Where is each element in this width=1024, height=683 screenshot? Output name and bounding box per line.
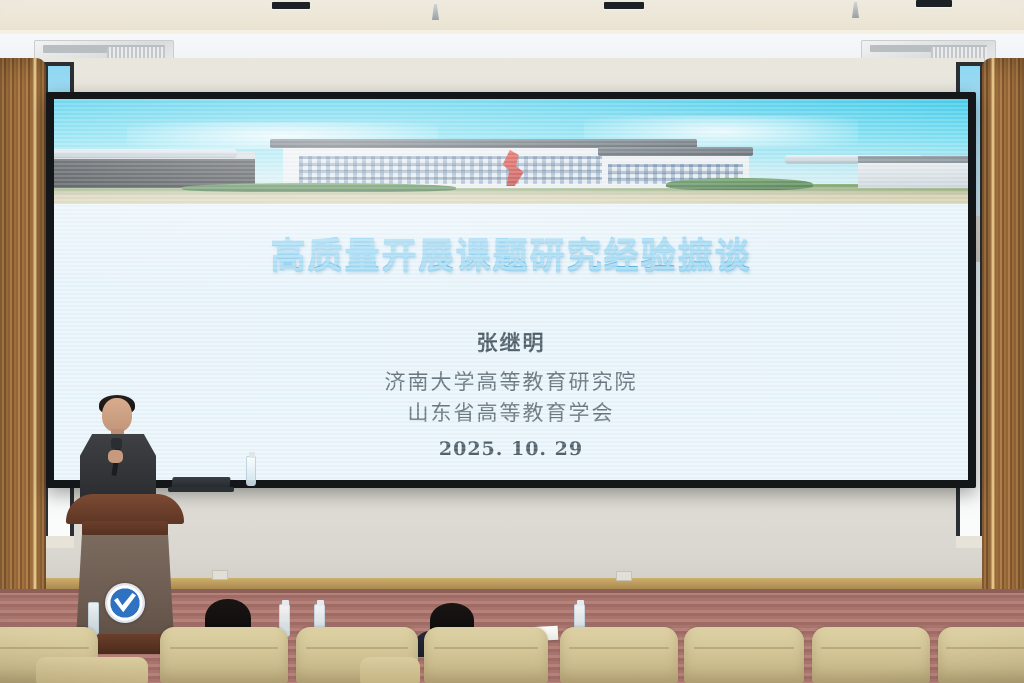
column-highlight — [990, 58, 996, 670]
laptop-base — [168, 487, 234, 492]
ceiling-spotlight — [272, 2, 310, 9]
seat — [360, 657, 420, 683]
podium-top — [66, 494, 184, 524]
wall-power-socket — [212, 570, 228, 580]
slide-banner-photo — [54, 99, 968, 204]
banner-skybridge-left — [54, 149, 237, 158]
presentation-slide[interactable]: 高质量开展课题研究经验摭谈 张继明 济南大学高等教育研究院 山东省高等教育学会 … — [54, 99, 968, 480]
building-roof — [858, 156, 968, 163]
seat — [36, 657, 148, 683]
banner-treeline — [182, 183, 456, 192]
slide-presenter-name: 张继明 — [54, 327, 968, 357]
microphone-head — [111, 438, 122, 449]
wood-slat-column-right — [982, 58, 1024, 670]
slide-date: 2025. 10. 29 — [54, 438, 968, 460]
slide-affiliation-line-1: 济南大学高等教育研究院 — [54, 366, 968, 396]
presenter-head — [102, 398, 132, 432]
column-highlight — [32, 58, 38, 670]
bottle-cap — [317, 600, 324, 606]
audience-seat-row-back — [0, 653, 1024, 683]
wall-baseboard — [44, 578, 984, 589]
bottle-cap — [282, 600, 289, 606]
bottle-cap — [577, 600, 584, 606]
presenter-hand — [108, 450, 123, 463]
wall-below-screen — [44, 486, 984, 582]
bottle-cap — [249, 452, 255, 458]
wall-power-socket — [616, 571, 632, 581]
building-roof — [598, 147, 753, 156]
wood-slat-column-left — [0, 58, 46, 670]
podium-neck — [82, 521, 168, 537]
slide-title: 高质量开展课题研究经验摭谈 — [54, 227, 968, 278]
ceiling-spotlight — [604, 2, 644, 9]
projection-screen-frame: 高质量开展课题研究经验摭谈 张继明 济南大学高等教育研究院 山东省高等教育学会 … — [46, 92, 976, 488]
slide-title-text: 高质量开展课题研究经验摭谈 — [270, 236, 751, 276]
emblem-mark — [114, 593, 136, 613]
university-emblem-icon — [105, 583, 145, 623]
water-bottle — [246, 456, 256, 486]
lecture-hall-photo: 高质量开展课题研究经验摭谈 张继明 济南大学高等教育研究院 山东省高等教育学会 … — [0, 0, 1024, 683]
slide-affiliation-line-2: 山东省高等教育学会 — [54, 397, 968, 427]
ceiling-spotlight — [916, 0, 952, 7]
slide-subtitle-block: 张继明 济南大学高等教育研究院 山东省高等教育学会 2025. 10. 29 — [54, 327, 968, 460]
banner-treeline — [666, 178, 812, 190]
presenter — [70, 398, 162, 498]
banner-building-dark-right — [858, 162, 968, 188]
window-sill — [956, 536, 984, 548]
